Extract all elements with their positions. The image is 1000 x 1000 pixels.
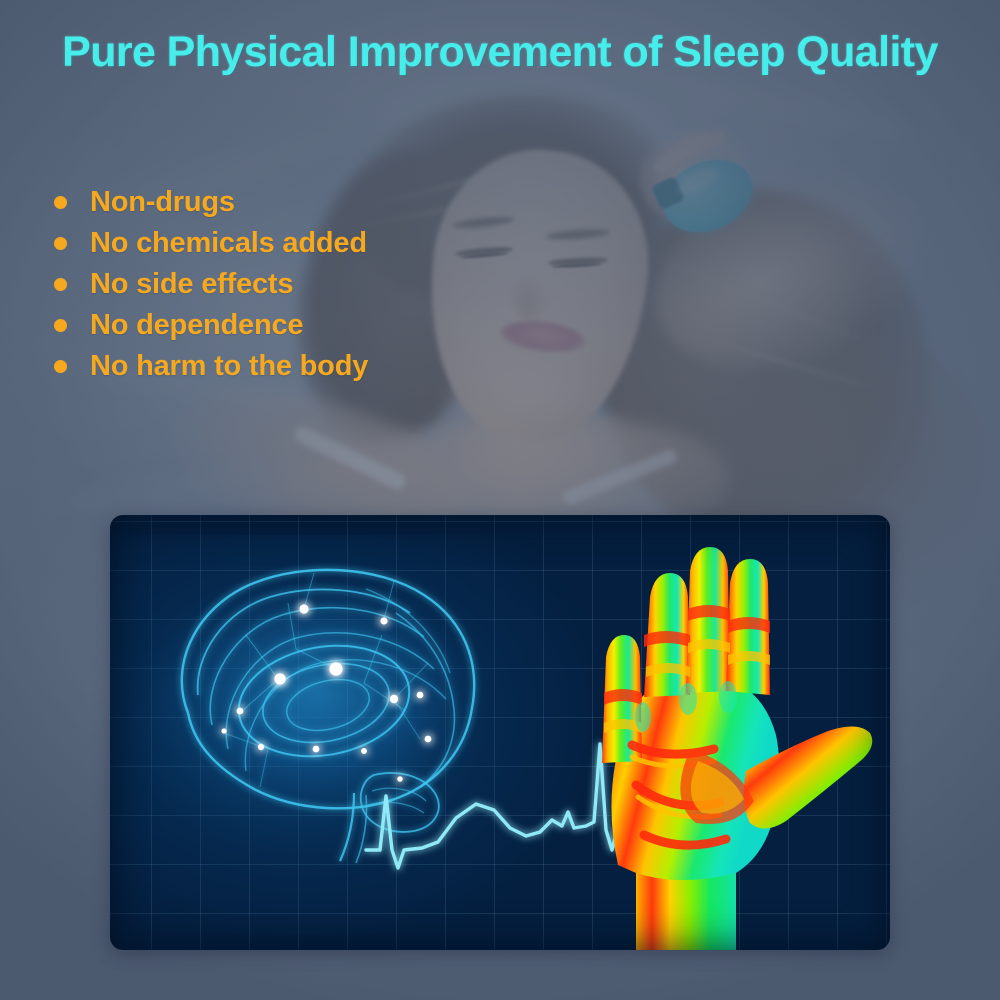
bullet-dot-icon	[54, 360, 67, 373]
list-item: No dependence	[54, 305, 368, 346]
list-item: No side effects	[54, 264, 368, 305]
thermal-hand-image	[540, 535, 890, 950]
bullet-dot-icon	[54, 237, 67, 250]
benefit-label: No harm to the body	[90, 350, 368, 383]
benefit-label: Non-drugs	[90, 186, 235, 219]
list-item: No harm to the body	[54, 346, 368, 387]
list-item: No chemicals added	[54, 223, 368, 264]
list-item: Non-drugs	[54, 182, 368, 223]
benefit-label: No side effects	[90, 268, 293, 301]
bullet-dot-icon	[54, 319, 67, 332]
bullet-dot-icon	[54, 278, 67, 291]
promo-image-stage: Pure Physical Improvement of Sleep Quali…	[0, 0, 1000, 1000]
technology-panel	[110, 515, 890, 950]
bullet-dot-icon	[54, 196, 67, 209]
benefits-list: Non-drugs No chemicals added No side eff…	[54, 182, 368, 387]
benefit-label: No chemicals added	[90, 227, 367, 260]
page-title: Pure Physical Improvement of Sleep Quali…	[0, 28, 1000, 77]
benefit-label: No dependence	[90, 309, 303, 342]
